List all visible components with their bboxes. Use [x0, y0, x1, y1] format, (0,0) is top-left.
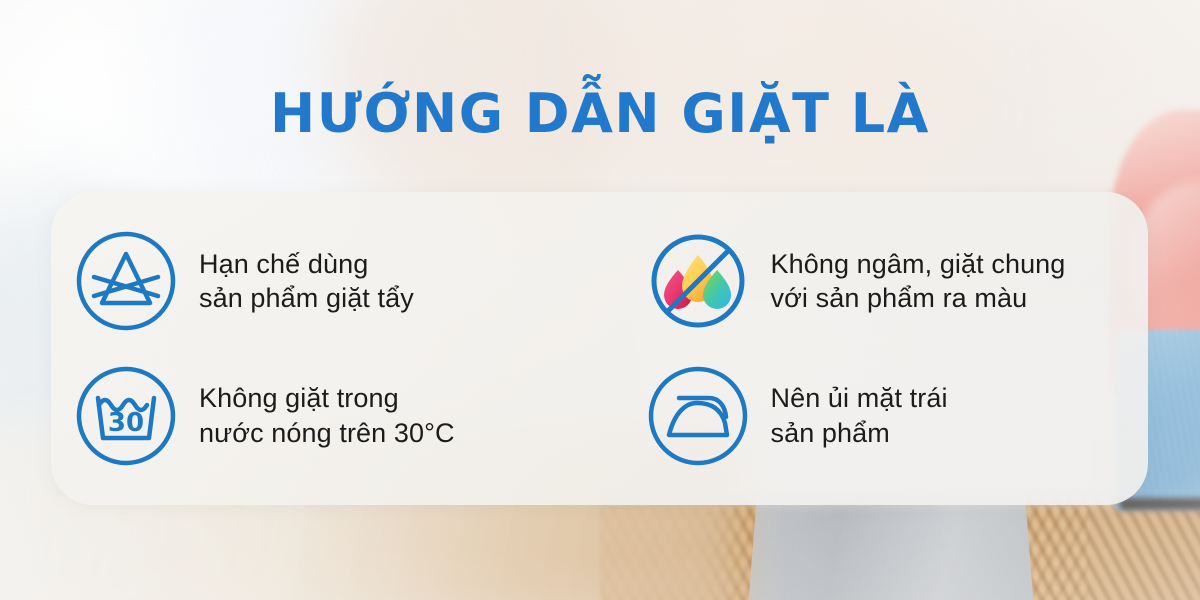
laundry-care-infographic: HƯỚNG DẪN GIẶT LÀ Hạn chế dùng sản phẩm … — [0, 0, 1200, 600]
care-item-no-color-bleed: Không ngâm, giặt chung với sản phẩm ra m… — [599, 214, 1123, 349]
care-item-label: Nên ủi mặt trái sản phẩm — [771, 381, 948, 450]
page-title: HƯỚNG DẪN GIẶT LÀ — [0, 84, 1200, 143]
iron-icon — [647, 365, 749, 467]
care-item-wash-30: 30 Không giặt trong nước nóng trên 30°C — [75, 349, 599, 484]
care-item-label: Hạn chế dùng sản phẩm giặt tẩy — [199, 247, 414, 316]
no-bleach-icon — [75, 230, 177, 332]
instructions-card: Hạn chế dùng sản phẩm giặt tẩy — [51, 192, 1148, 505]
care-item-iron: Nên ủi mặt trái sản phẩm — [599, 349, 1123, 484]
no-color-bleed-icon — [647, 230, 749, 332]
care-item-label: Không ngâm, giặt chung với sản phẩm ra m… — [771, 247, 1066, 316]
care-item-no-bleach: Hạn chế dùng sản phẩm giặt tẩy — [75, 214, 599, 349]
care-item-label: Không giặt trong nước nóng trên 30°C — [199, 381, 455, 450]
wash-30-icon: 30 — [75, 365, 177, 467]
instructions-grid: Hạn chế dùng sản phẩm giặt tẩy — [51, 192, 1148, 505]
wash-temperature-label: 30 — [108, 408, 144, 438]
